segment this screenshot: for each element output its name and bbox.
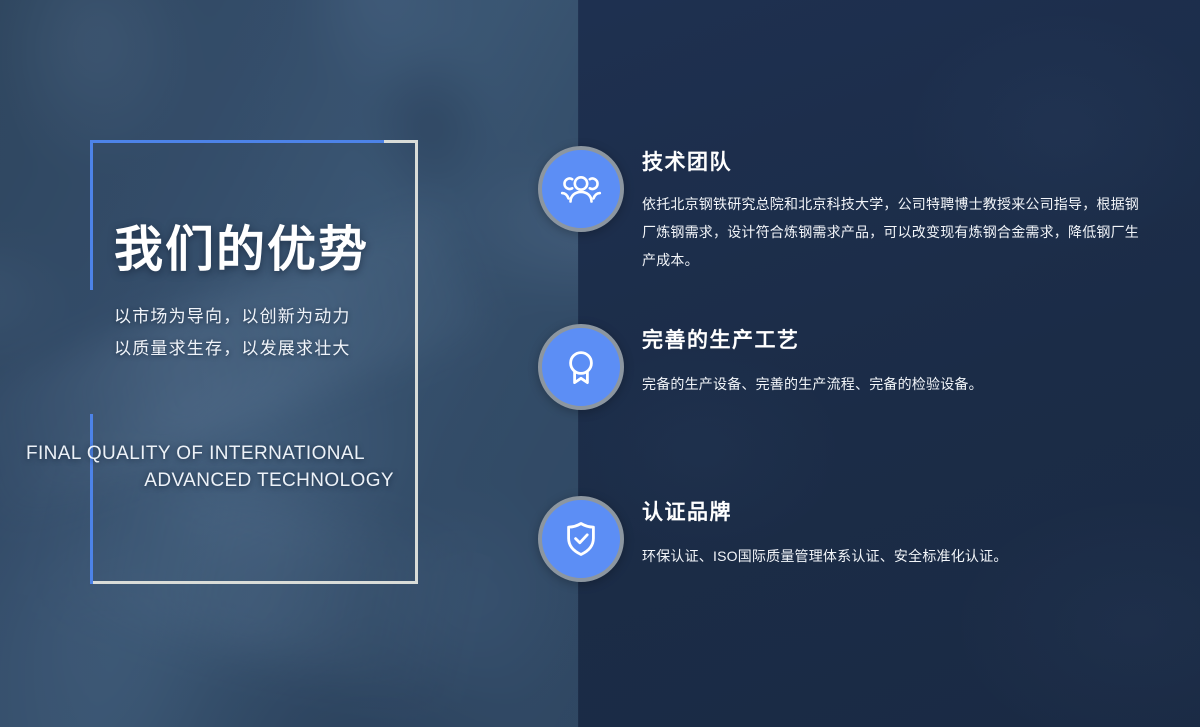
feature-list: 技术团队 依托北京钢铁研究总院和北京科技大学，公司特聘博士教授来公司指导，根据钢… <box>0 0 1200 727</box>
feature-title: 完善的生产工艺 <box>642 326 1142 356</box>
feature-title: 认证品牌 <box>642 498 1142 528</box>
shield-check-icon <box>538 496 624 582</box>
feature-body: 技术团队 依托北京钢铁研究总院和北京科技大学，公司特聘博士教授来公司指导，根据钢… <box>642 148 1142 274</box>
feature-description: 依托北京钢铁研究总院和北京科技大学，公司特聘博士教授来公司指导，根据钢厂炼钢需求… <box>642 190 1142 274</box>
feature-description: 环保认证、ISO国际质量管理体系认证、安全标准化认证。 <box>642 542 1142 570</box>
slide-canvas: 我们的优势 以市场为导向，以创新为动力 以质量求生存，以发展求壮大 FINAL … <box>0 0 1200 727</box>
award-medal-icon <box>538 324 624 410</box>
people-group-icon <box>538 146 624 232</box>
feature-description: 完备的生产设备、完善的生产流程、完备的检验设备。 <box>642 370 1142 398</box>
feature-body: 完善的生产工艺 完备的生产设备、完善的生产流程、完备的检验设备。 <box>642 326 1142 398</box>
feature-body: 认证品牌 环保认证、ISO国际质量管理体系认证、安全标准化认证。 <box>642 498 1142 570</box>
feature-title: 技术团队 <box>642 148 1142 178</box>
